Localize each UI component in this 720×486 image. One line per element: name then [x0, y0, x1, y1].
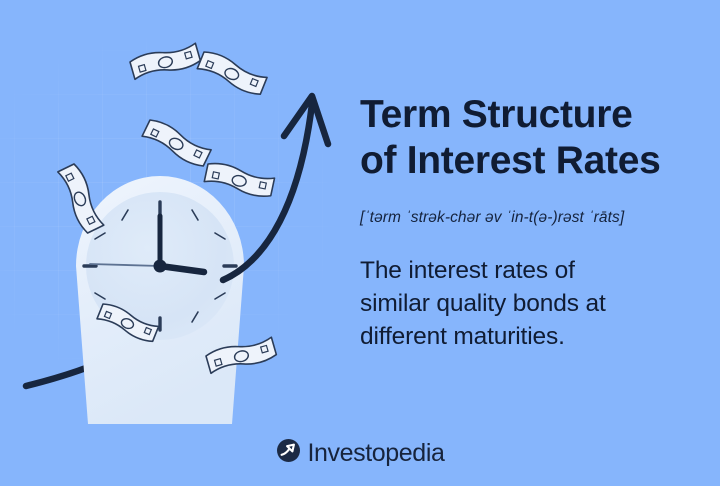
- definition-text: The interest rates of similar quality bo…: [360, 254, 692, 353]
- dollar-bill: [196, 49, 268, 97]
- page-title: Term Structure of Interest Rates: [360, 92, 692, 184]
- dollar-bill: [204, 161, 276, 199]
- investopedia-wordmark: Investopedia: [308, 441, 445, 466]
- dollar-bill: [55, 163, 106, 235]
- dollar-bill: [129, 40, 201, 82]
- pronunciation-text: [ˈtərm ˈstrək-chər əv ˈin-t(ə-)rəst ˈrāt…: [360, 208, 692, 228]
- clock-tower-illustration: [18, 34, 348, 424]
- investopedia-logo: Investopedia: [0, 438, 720, 468]
- infographic-card: Term Structure of Interest Rates [ˈtərm …: [0, 0, 720, 486]
- text-column: Term Structure of Interest Rates [ˈtərm …: [360, 92, 692, 353]
- investopedia-mark-icon: [276, 438, 301, 468]
- dollar-bill: [141, 117, 213, 168]
